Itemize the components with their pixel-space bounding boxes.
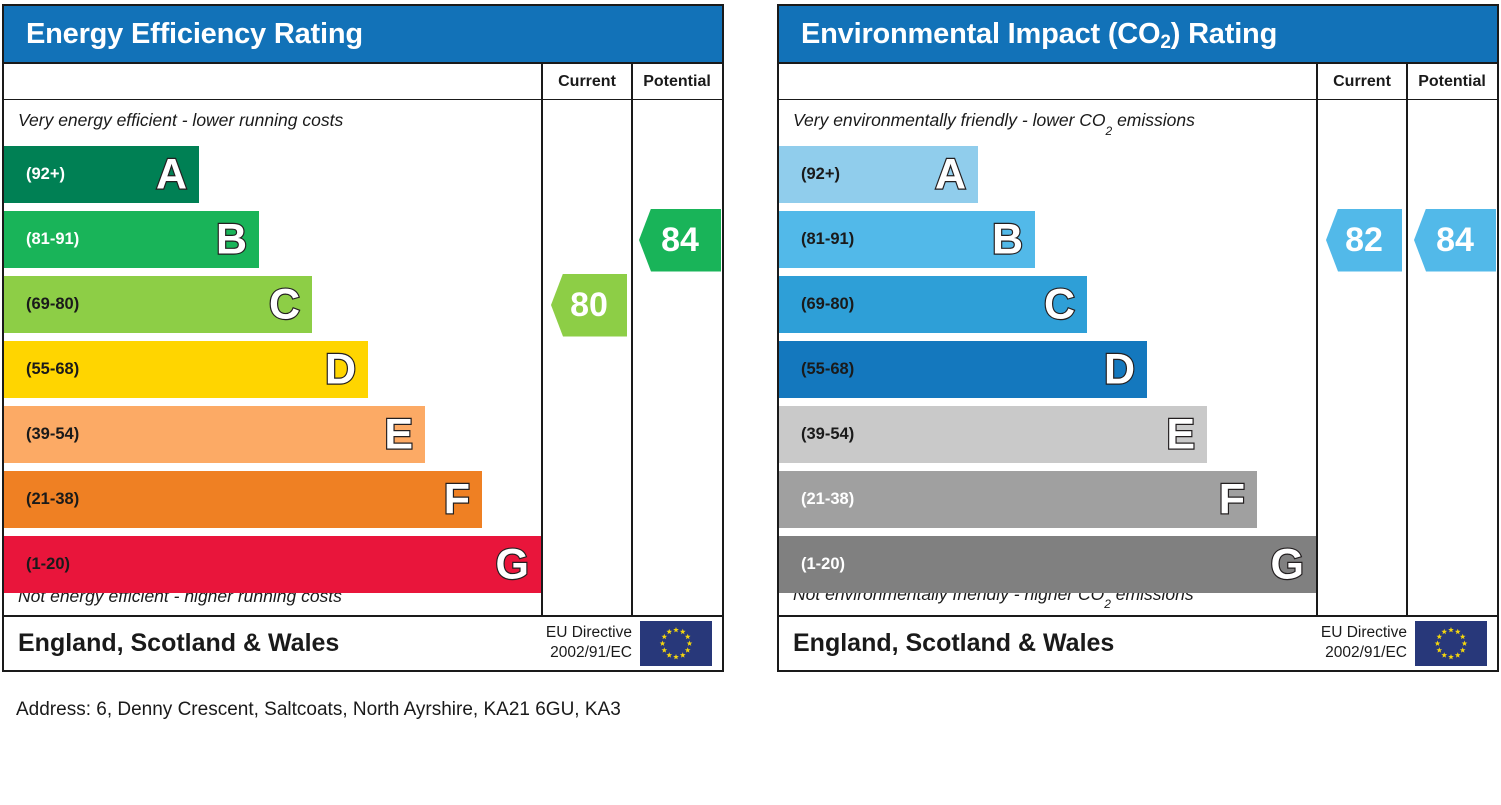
energy-current-rating-chip: 80 bbox=[551, 274, 627, 337]
co2-potential-rating-chip: 84 bbox=[1414, 209, 1496, 272]
co2-column-header-row: Current Potential bbox=[779, 62, 1497, 100]
band-range-e: (39-54) bbox=[801, 425, 854, 444]
energy-efficiency-rating-chart: Energy Efficiency Rating Current Potenti… bbox=[2, 4, 724, 672]
co2-eu-directive-text: EU Directive 2002/91/EC bbox=[1321, 623, 1415, 663]
band-letter-f: F bbox=[444, 478, 470, 521]
band-letter-e: E bbox=[1166, 413, 1195, 456]
co2-eu-directive-line2: 2002/91/EC bbox=[1321, 643, 1407, 663]
band-bar-d: (55-68)D bbox=[779, 341, 1147, 398]
energy-eu-directive-line1: EU Directive bbox=[546, 623, 632, 643]
band-range-f: (21-38) bbox=[26, 490, 79, 509]
band-range-g: (1-20) bbox=[801, 555, 845, 574]
band-range-e: (39-54) bbox=[26, 425, 79, 444]
co2-current-column: 82 bbox=[1316, 100, 1406, 615]
co2-header-potential: Potential bbox=[1406, 64, 1496, 99]
band-letter-d: D bbox=[1104, 348, 1135, 391]
co2-potential-column: 84 bbox=[1406, 100, 1496, 615]
co2-current-rating-chip: 82 bbox=[1326, 209, 1402, 272]
band-bar-g: (1-20)G bbox=[4, 536, 541, 593]
band-range-c: (69-80) bbox=[801, 295, 854, 314]
energy-chart-title-text: Energy Efficiency Rating bbox=[26, 18, 363, 51]
band-letter-g: G bbox=[496, 543, 529, 586]
band-letter-e: E bbox=[384, 413, 413, 456]
energy-footer-region: England, Scotland & Wales bbox=[4, 629, 546, 658]
energy-eu-directive-text: EU Directive 2002/91/EC bbox=[546, 623, 640, 663]
energy-chart-title: Energy Efficiency Rating bbox=[4, 6, 722, 62]
co2-band-list: Very environmentally friendly - lower CO… bbox=[779, 100, 1316, 615]
band-letter-d: D bbox=[325, 348, 356, 391]
band-bar-g: (1-20)G bbox=[779, 536, 1316, 593]
energy-eu-directive-line2: 2002/91/EC bbox=[546, 643, 632, 663]
energy-chart-body: Very energy efficient - lower running co… bbox=[4, 100, 722, 615]
co2-caption-top: Very environmentally friendly - lower CO… bbox=[793, 110, 1195, 134]
property-address: Address: 6, Denny Crescent, Saltcoats, N… bbox=[16, 699, 621, 721]
band-bar-f: (21-38)F bbox=[779, 471, 1257, 528]
band-bar-e: (39-54)E bbox=[779, 406, 1207, 463]
energy-header-current: Current bbox=[541, 64, 631, 99]
band-letter-c: C bbox=[269, 283, 300, 326]
band-bar-b: (81-91)B bbox=[779, 211, 1035, 268]
co2-header-blank-cell bbox=[779, 64, 1316, 99]
band-range-f: (21-38) bbox=[801, 490, 854, 509]
band-range-a: (92+) bbox=[26, 165, 65, 184]
band-range-a: (92+) bbox=[801, 165, 840, 184]
energy-current-column: 80 bbox=[541, 100, 631, 615]
band-bar-a: (92+)A bbox=[4, 146, 199, 203]
band-letter-a: A bbox=[935, 153, 966, 196]
band-bar-b: (81-91)B bbox=[4, 211, 259, 268]
eu-flag-icon bbox=[1415, 621, 1487, 666]
band-range-d: (55-68) bbox=[801, 360, 854, 379]
co2-header-current: Current bbox=[1316, 64, 1406, 99]
band-bar-f: (21-38)F bbox=[4, 471, 482, 528]
energy-footer: England, Scotland & Wales EU Directive 2… bbox=[4, 615, 722, 669]
energy-header-potential: Potential bbox=[631, 64, 721, 99]
environmental-impact-rating-chart: Environmental Impact (CO2) Rating Curren… bbox=[777, 4, 1499, 672]
eu-flag-icon bbox=[640, 621, 712, 666]
co2-eu-directive-line1: EU Directive bbox=[1321, 623, 1407, 643]
co2-chart-title-text: Environmental Impact (CO2) Rating bbox=[801, 18, 1277, 51]
band-range-g: (1-20) bbox=[26, 555, 70, 574]
energy-potential-rating-chip: 84 bbox=[639, 209, 721, 272]
band-bar-c: (69-80)C bbox=[779, 276, 1087, 333]
co2-chart-title: Environmental Impact (CO2) Rating bbox=[779, 6, 1497, 62]
band-range-c: (69-80) bbox=[26, 295, 79, 314]
co2-footer: England, Scotland & Wales EU Directive 2… bbox=[779, 615, 1497, 669]
energy-potential-column: 84 bbox=[631, 100, 721, 615]
energy-caption-top: Very energy efficient - lower running co… bbox=[18, 110, 343, 131]
band-range-b: (81-91) bbox=[801, 230, 854, 249]
band-letter-a: A bbox=[156, 153, 187, 196]
co2-chart-body: Very environmentally friendly - lower CO… bbox=[779, 100, 1497, 615]
band-bar-e: (39-54)E bbox=[4, 406, 425, 463]
band-letter-b: B bbox=[216, 218, 247, 261]
band-bar-c: (69-80)C bbox=[4, 276, 312, 333]
co2-footer-region: England, Scotland & Wales bbox=[779, 629, 1321, 658]
energy-header-blank-cell bbox=[4, 64, 541, 99]
band-range-d: (55-68) bbox=[26, 360, 79, 379]
band-letter-f: F bbox=[1219, 478, 1245, 521]
band-bar-d: (55-68)D bbox=[4, 341, 368, 398]
band-bar-a: (92+)A bbox=[779, 146, 978, 203]
energy-band-list: Very energy efficient - lower running co… bbox=[4, 100, 541, 615]
band-letter-g: G bbox=[1271, 543, 1304, 586]
band-range-b: (81-91) bbox=[26, 230, 79, 249]
band-letter-c: C bbox=[1044, 283, 1075, 326]
energy-column-header-row: Current Potential bbox=[4, 62, 722, 100]
band-letter-b: B bbox=[992, 218, 1023, 261]
